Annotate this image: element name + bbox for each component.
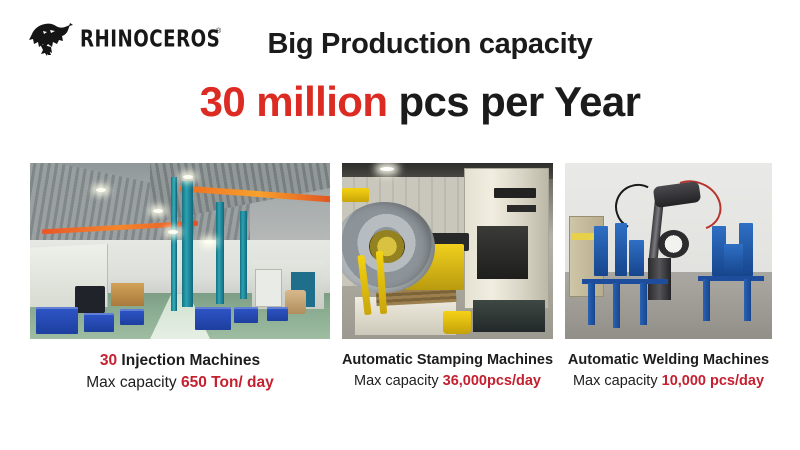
injection-machine-label: Injection Machines	[117, 352, 260, 369]
caption-stamping-line1: Automatic Stamping Machines	[338, 350, 557, 371]
page-title: Big Production capacity	[0, 28, 800, 61]
caption-stamping-line2: Max capacity 36,000pcs/day	[338, 371, 557, 392]
header: RHINOCEROS ® Big Production capacity 30 …	[0, 0, 800, 150]
caption-injection-line1: 30 Injection Machines	[30, 350, 330, 372]
caption-welding-line1: Automatic Welding Machines	[561, 350, 776, 371]
stamping-capacity-prefix: Max capacity	[354, 373, 443, 389]
caption-injection-line2: Max capacity 650 Ton/ day	[30, 372, 330, 394]
slide-root: RHINOCEROS ® Big Production capacity 30 …	[0, 0, 800, 450]
caption-welding-line2: Max capacity 10,000 pcs/day	[561, 371, 776, 392]
caption-row: 30 Injection Machines Max capacity 650 T…	[0, 350, 800, 400]
photo-welding-robot	[565, 163, 772, 339]
photo-stamping-press	[342, 163, 553, 339]
welding-capacity-value: 10,000 pcs/day	[662, 373, 764, 389]
page-subtitle: 30 million pcs per Year	[0, 78, 800, 126]
welding-machine-label: Automatic Welding Machines	[568, 352, 769, 368]
photo-injection-workshop	[30, 163, 330, 339]
injection-capacity-prefix: Max capacity	[86, 374, 181, 391]
stamping-capacity-value: 36,000pcs/day	[443, 373, 541, 389]
caption-welding: Automatic Welding Machines Max capacity …	[561, 350, 776, 392]
injection-capacity-value: 650 Ton/ day	[181, 374, 274, 391]
stamping-machine-label: Automatic Stamping Machines	[342, 352, 553, 368]
capacity-figure: 30 million	[200, 78, 388, 125]
photo-gallery	[0, 163, 800, 339]
capacity-unit: pcs per Year	[387, 78, 640, 125]
caption-injection: 30 Injection Machines Max capacity 650 T…	[30, 350, 330, 395]
welding-capacity-prefix: Max capacity	[573, 373, 662, 389]
injection-machine-count: 30	[100, 352, 117, 369]
caption-stamping: Automatic Stamping Machines Max capacity…	[338, 350, 557, 392]
